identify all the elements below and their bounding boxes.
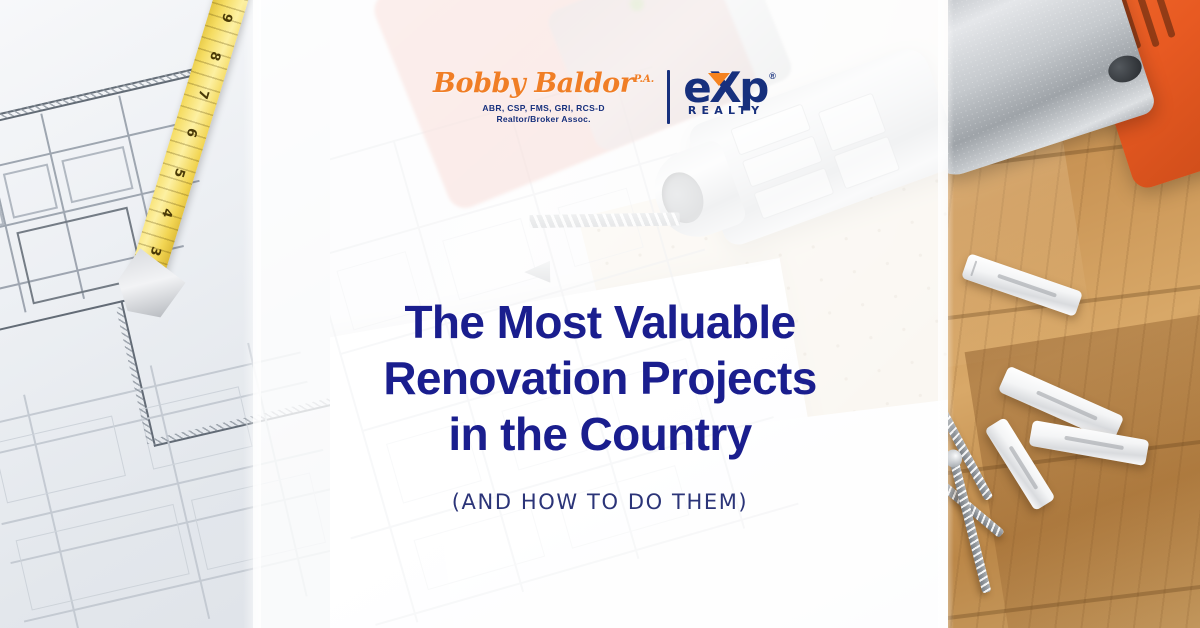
logo-divider [667,70,670,124]
agent-name-suffix: P.A. [634,74,655,85]
exp-triangle-icon [708,73,730,86]
headline-line-1: The Most Valuable [250,294,950,350]
registered-trademark-icon: ® [769,71,776,81]
headline-line-2: Renovation Projects [250,350,950,406]
page-title: The Most Valuable Renovation Projects in… [0,294,1200,462]
agent-name: Bobby BaldorP.A. [433,70,654,97]
exp-wordmark: eXp ® [683,69,767,108]
agent-brand[interactable]: Bobby BaldorP.A. ABR, CSP, FMS, GRI, RCS… [433,68,654,124]
agent-credentials: ABR, CSP, FMS, GRI, RCS-D [482,103,604,113]
logo-lockup[interactable]: Bobby BaldorP.A. ABR, CSP, FMS, GRI, RCS… [0,68,1200,124]
page-subtitle: (AND HOW TO DO THEM) [0,490,1200,514]
banner-content: Bobby BaldorP.A. ABR, CSP, FMS, GRI, RCS… [0,0,1200,628]
promo-banner: 9 8 7 6 5 4 3 [0,0,1200,628]
agent-role: Realtor/Broker Assoc. [497,114,591,124]
headline-line-3: in the Country [250,406,950,462]
exp-realty-logo[interactable]: eXp ® REALTY [683,68,767,117]
